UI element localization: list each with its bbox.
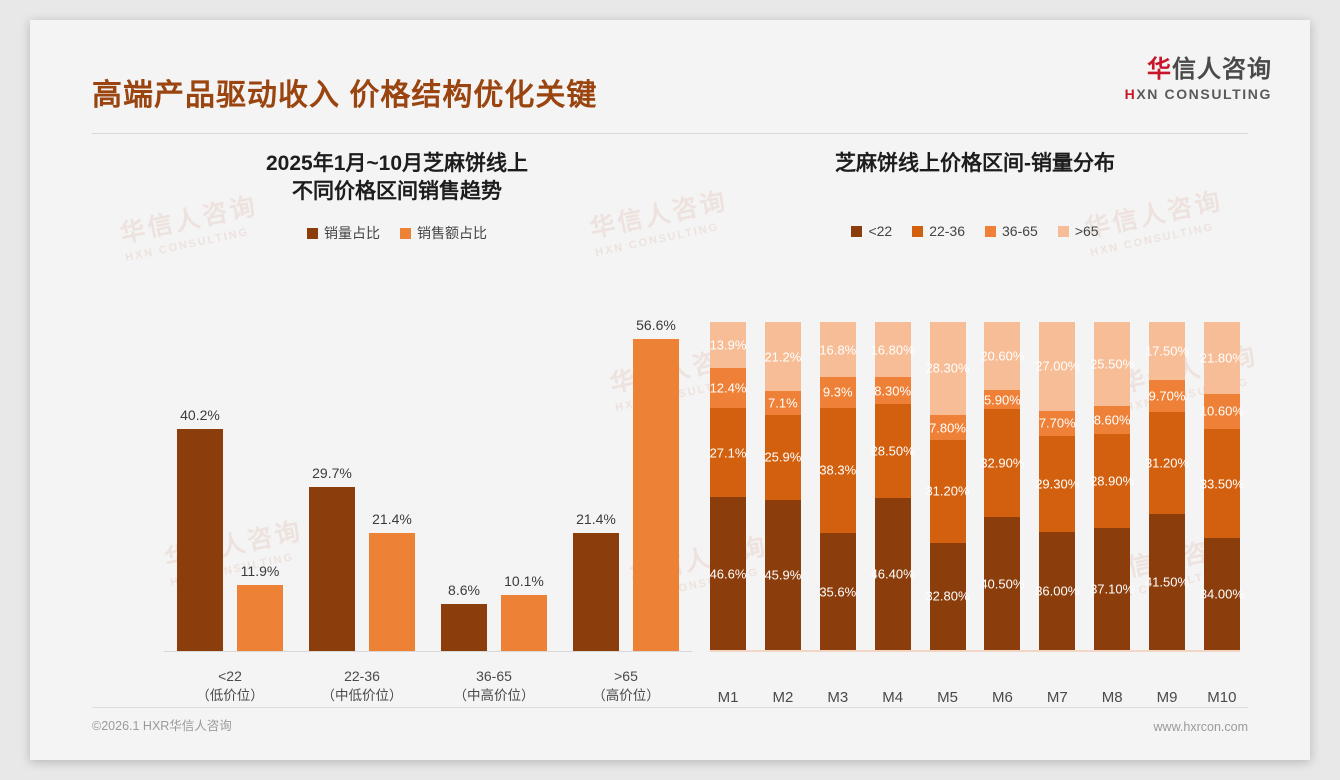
stack-segment-value-label: 8.60% — [1094, 412, 1131, 427]
stack-segment[interactable]: 7.70% — [1039, 411, 1075, 436]
stack-segment-value-label: 32.90% — [980, 456, 1024, 471]
legend-label: 销量占比 — [324, 223, 380, 243]
stack-segment[interactable]: 35.6% — [820, 533, 856, 650]
bar-slot: 11.9% — [237, 320, 283, 651]
stack-segment-value-label: 25.50% — [1090, 356, 1134, 371]
legend-swatch-icon — [985, 226, 996, 237]
bar-group: 40.2%11.9% — [177, 320, 283, 651]
stack-segment[interactable]: 28.30% — [930, 322, 966, 415]
bar-slot: 21.4% — [369, 320, 415, 651]
stack-segment-value-label: 20.60% — [980, 349, 1024, 364]
stack-segment[interactable]: 21.2% — [765, 322, 801, 391]
stack-segment[interactable]: 16.8% — [820, 322, 856, 377]
stack-segment-value-label: 21.2% — [764, 349, 801, 364]
stack-segment[interactable]: 21.80% — [1204, 322, 1240, 394]
bar[interactable]: 8.6% — [441, 604, 487, 651]
stack-segment-value-label: 17.50% — [1145, 344, 1189, 359]
stack-segment[interactable]: 38.3% — [820, 408, 856, 534]
stack-segment[interactable]: 27.00% — [1039, 322, 1075, 411]
right-chart-title: 芝麻饼线上价格区间-销量分布 — [702, 150, 1248, 205]
bar-slot: 8.6% — [441, 320, 487, 651]
x-axis-label: M4 — [875, 689, 911, 706]
bar-slot: 21.4% — [573, 320, 619, 651]
footer-website[interactable]: www.hxrcon.com — [1154, 720, 1248, 734]
x-axis-label: 22-36（中低价位） — [308, 666, 416, 706]
left-chart-title-line2: 不同价格区间销售趋势 — [92, 178, 702, 206]
stack-segment-value-label: 9.70% — [1149, 388, 1186, 403]
x-axis-label: M3 — [820, 689, 856, 706]
stack-segment-value-label: 7.70% — [1039, 416, 1076, 431]
stacked-bar[interactable]: 17.50%9.70%31.20%41.50% — [1149, 322, 1185, 650]
stack-segment-value-label: 29.30% — [1035, 476, 1079, 491]
left-chart-legend: 销量占比销售额占比 — [92, 223, 702, 243]
stack-segment-value-label: 34.00% — [1200, 587, 1244, 602]
stack-segment[interactable]: 16.80% — [875, 322, 911, 377]
left-chart-title-line1: 2025年1月~10月芝麻饼线上 — [92, 150, 702, 178]
company-logo: 华信人咨询 HXN CONSULTING — [1125, 56, 1272, 102]
stack-segment[interactable]: 45.9% — [765, 500, 801, 650]
x-axis-label-range: 36-65 — [476, 668, 512, 684]
stack-segment-value-label: 12.4% — [710, 380, 747, 395]
stack-segment-value-label: 7.1% — [768, 396, 798, 411]
stacked-bar[interactable]: 28.30%7.80%31.20%32.80% — [930, 322, 966, 650]
stack-segment[interactable]: 9.70% — [1149, 380, 1185, 412]
x-axis-label-range: >65 — [614, 668, 638, 684]
stack-segment-value-label: 36.00% — [1035, 583, 1079, 598]
stacked-bar[interactable]: 20.60%5.90%32.90%40.50% — [984, 322, 1020, 650]
slide-canvas: 高端产品驱动收入 价格结构优化关键 华信人咨询 HXN CONSULTING 华… — [30, 20, 1310, 760]
stack-segment-value-label: 10.60% — [1200, 404, 1244, 419]
stack-segment[interactable]: 29.30% — [1039, 436, 1075, 532]
stack-segment[interactable]: 37.10% — [1094, 528, 1130, 650]
stack-segment[interactable]: 27.1% — [710, 408, 746, 497]
legend-swatch-icon — [912, 226, 923, 237]
bar[interactable]: 21.4% — [369, 533, 415, 651]
logo-chinese-text: 华信人咨询 — [1125, 56, 1272, 84]
x-axis-label: <22（低价位） — [176, 666, 284, 706]
stack-segment[interactable]: 9.3% — [820, 377, 856, 408]
x-axis-label: M9 — [1149, 689, 1185, 706]
right-chart-plot: 13.9%12.4%27.1%46.6%21.2%7.1%25.9%45.9%1… — [702, 310, 1248, 710]
stacked-bar[interactable]: 21.2%7.1%25.9%45.9% — [765, 322, 801, 650]
bar[interactable]: 21.4% — [573, 533, 619, 651]
right-chart-legend-item[interactable]: 36-65 — [985, 223, 1038, 239]
x-axis-label: M8 — [1094, 689, 1130, 706]
stack-segment[interactable]: 40.50% — [984, 517, 1020, 650]
left-chart-legend-item[interactable]: 销量占比 — [307, 223, 380, 243]
bar-slot: 29.7% — [309, 320, 355, 651]
stacked-bar[interactable]: 27.00%7.70%29.30%36.00% — [1039, 322, 1075, 650]
stack-segment-value-label: 16.80% — [871, 342, 915, 357]
stack-segment-value-label: 16.8% — [819, 342, 856, 357]
x-axis-label: M6 — [984, 689, 1020, 706]
bar-group: 29.7%21.4% — [309, 320, 415, 651]
stack-segment-value-label: 27.00% — [1035, 359, 1079, 374]
stack-segment-value-label: 38.3% — [819, 463, 856, 478]
page-title: 高端产品驱动收入 价格结构优化关键 — [92, 70, 597, 114]
left-chart-bar-groups: 40.2%11.9%29.7%21.4%8.6%10.1%21.4%56.6% — [164, 320, 692, 651]
stack-segment[interactable]: 7.80% — [930, 415, 966, 441]
bar-slot: 40.2% — [177, 320, 223, 651]
stacked-bar[interactable]: 16.80%8.30%28.50%46.40% — [875, 322, 911, 650]
left-chart-legend-item[interactable]: 销售额占比 — [400, 223, 487, 243]
stack-segment[interactable]: 7.1% — [765, 391, 801, 414]
logo-english-text: HXN CONSULTING — [1125, 86, 1272, 102]
left-chart-axis-line — [164, 651, 692, 652]
stack-segment[interactable]: 34.00% — [1204, 538, 1240, 650]
stacked-bar[interactable]: 25.50%8.60%28.90%37.10% — [1094, 322, 1130, 650]
left-chart-title: 2025年1月~10月芝麻饼线上 不同价格区间销售趋势 — [92, 150, 702, 205]
stack-segment[interactable]: 10.60% — [1204, 394, 1240, 429]
footer-copyright: ©2026.1 HXR华信人咨询 — [92, 715, 232, 734]
stack-segment-value-label: 41.50% — [1145, 574, 1189, 589]
stack-segment[interactable]: 31.20% — [930, 440, 966, 542]
x-axis-label: 36-65（中高价位） — [440, 666, 548, 706]
right-chart-legend-item[interactable]: 22-36 — [912, 223, 965, 239]
x-axis-label: M1 — [710, 689, 746, 706]
x-axis-label: M2 — [765, 689, 801, 706]
stack-segment[interactable]: 46.40% — [875, 498, 911, 650]
stack-segment-value-label: 45.9% — [764, 567, 801, 582]
stack-segment-value-label: 46.40% — [871, 566, 915, 581]
stack-segment-value-label: 28.30% — [925, 361, 969, 376]
bar-slot: 56.6% — [633, 320, 679, 651]
x-axis-label-range: <22 — [218, 668, 242, 684]
right-chart-axis-line — [710, 650, 1240, 652]
stack-segment-value-label: 33.50% — [1200, 476, 1244, 491]
bar-value-label: 21.4% — [372, 511, 412, 527]
stack-segment-value-label: 5.90% — [984, 392, 1021, 407]
stacked-bar[interactable]: 16.8%9.3%38.3%35.6% — [820, 322, 856, 650]
right-chart-legend: <2222-3636-65>65 — [702, 223, 1248, 239]
x-axis-label-range: 22-36 — [344, 668, 380, 684]
left-chart-plot: 40.2%11.9%29.7%21.4%8.6%10.1%21.4%56.6% … — [92, 310, 702, 710]
stack-segment-value-label: 28.50% — [871, 444, 915, 459]
legend-swatch-icon — [851, 226, 862, 237]
stack-segment[interactable]: 28.90% — [1094, 434, 1130, 529]
stack-segment-value-label: 35.6% — [819, 584, 856, 599]
stack-segment[interactable]: 25.9% — [765, 415, 801, 500]
stack-segment-value-label: 13.9% — [710, 337, 747, 352]
stack-segment-value-label: 7.80% — [929, 420, 966, 435]
stack-segment-value-label: 46.6% — [710, 566, 747, 581]
stack-segment-value-label: 27.1% — [710, 445, 747, 460]
stack-segment[interactable]: 8.30% — [875, 377, 911, 404]
legend-label: 22-36 — [929, 223, 965, 239]
legend-label: 销售额占比 — [417, 223, 487, 243]
bar[interactable]: 56.6% — [633, 339, 679, 651]
stack-segment[interactable]: 32.80% — [930, 543, 966, 650]
stack-segment-value-label: 9.3% — [823, 385, 853, 400]
x-axis-label: >65（高价位） — [572, 666, 680, 706]
left-chart-panel: 2025年1月~10月芝麻饼线上 不同价格区间销售趋势 销量占比销售额占比 40… — [92, 150, 702, 710]
bar-value-label: 40.2% — [180, 407, 220, 423]
x-axis-label-subtitle: （低价位） — [176, 686, 284, 706]
logo-cn-accent: 华 — [1147, 56, 1172, 83]
left-chart-x-axis-labels: <22（低价位）22-36（中低价位）36-65（中高价位）>65（高价位） — [164, 666, 692, 706]
stack-segment[interactable]: 33.50% — [1204, 429, 1240, 539]
slide-header: 高端产品驱动收入 价格结构优化关键 华信人咨询 HXN CONSULTING — [30, 20, 1310, 120]
stack-segment-value-label: 28.90% — [1090, 474, 1134, 489]
stack-segment[interactable]: 8.60% — [1094, 406, 1130, 434]
bar-value-label: 10.1% — [504, 573, 544, 589]
stack-segment-value-label: 37.10% — [1090, 582, 1134, 597]
x-axis-label-subtitle: （高价位） — [572, 686, 680, 706]
right-chart-legend-item[interactable]: >65 — [1058, 223, 1099, 239]
logo-en-accent: H — [1125, 86, 1137, 102]
right-chart-title-line1: 芝麻饼线上价格区间-销量分布 — [702, 150, 1248, 178]
bar-slot: 10.1% — [501, 320, 547, 651]
legend-swatch-icon — [307, 228, 318, 239]
bar[interactable]: 29.7% — [309, 487, 355, 651]
stack-segment-value-label: 25.9% — [764, 450, 801, 465]
stack-segment[interactable]: 25.50% — [1094, 322, 1130, 406]
stack-segment[interactable]: 20.60% — [984, 322, 1020, 390]
stack-segment[interactable]: 28.50% — [875, 404, 911, 497]
x-axis-label-subtitle: （中低价位） — [308, 686, 416, 706]
bar-group: 8.6%10.1% — [441, 320, 547, 651]
right-chart-x-axis-labels: M1M2M3M4M5M6M7M8M9M10 — [710, 689, 1240, 706]
stacked-bar[interactable]: 13.9%12.4%27.1%46.6% — [710, 322, 746, 650]
legend-swatch-icon — [400, 228, 411, 239]
legend-swatch-icon — [1058, 226, 1069, 237]
stack-segment-value-label: 32.80% — [925, 589, 969, 604]
bar-group: 21.4%56.6% — [573, 320, 679, 651]
footer-divider — [92, 707, 1248, 708]
stack-segment[interactable]: 36.00% — [1039, 532, 1075, 650]
legend-label: 36-65 — [1002, 223, 1038, 239]
logo-en-rest: XN CONSULTING — [1136, 86, 1272, 102]
stack-segment-value-label: 40.50% — [980, 576, 1024, 591]
stack-segment[interactable]: 5.90% — [984, 390, 1020, 409]
stack-segment-value-label: 21.80% — [1200, 351, 1244, 366]
stack-segment[interactable]: 12.4% — [710, 368, 746, 409]
stack-segment-value-label: 8.30% — [874, 383, 911, 398]
bar[interactable]: 40.2% — [177, 429, 223, 651]
x-axis-label: M10 — [1204, 689, 1240, 706]
x-axis-label: M7 — [1039, 689, 1075, 706]
stack-segment[interactable]: 32.90% — [984, 409, 1020, 517]
stack-segment[interactable]: 46.6% — [710, 497, 746, 650]
legend-label: <22 — [868, 223, 892, 239]
bar[interactable]: 10.1% — [501, 595, 547, 651]
logo-cn-rest: 信人咨询 — [1172, 56, 1272, 83]
x-axis-label-subtitle: （中高价位） — [440, 686, 548, 706]
bar-value-label: 29.7% — [312, 465, 352, 481]
bar[interactable]: 11.9% — [237, 585, 283, 651]
bar-value-label: 8.6% — [448, 582, 480, 598]
stack-segment[interactable]: 31.20% — [1149, 412, 1185, 514]
right-chart-stacked-bars: 13.9%12.4%27.1%46.6%21.2%7.1%25.9%45.9%1… — [710, 322, 1240, 650]
x-axis-label: M5 — [930, 689, 966, 706]
stack-segment[interactable]: 17.50% — [1149, 322, 1185, 379]
stack-segment-value-label: 31.20% — [1145, 455, 1189, 470]
header-divider — [92, 133, 1248, 134]
stack-segment-value-label: 31.20% — [925, 484, 969, 499]
legend-label: >65 — [1075, 223, 1099, 239]
bar-value-label: 21.4% — [576, 511, 616, 527]
stacked-bar[interactable]: 21.80%10.60%33.50%34.00% — [1204, 322, 1240, 650]
bar-value-label: 11.9% — [241, 563, 280, 579]
right-chart-legend-item[interactable]: <22 — [851, 223, 892, 239]
stack-segment[interactable]: 41.50% — [1149, 514, 1185, 650]
stack-segment[interactable]: 13.9% — [710, 322, 746, 368]
right-chart-panel: 芝麻饼线上价格区间-销量分布 <2222-3636-65>65 13.9%12.… — [702, 150, 1248, 710]
bar-value-label: 56.6% — [636, 317, 676, 333]
